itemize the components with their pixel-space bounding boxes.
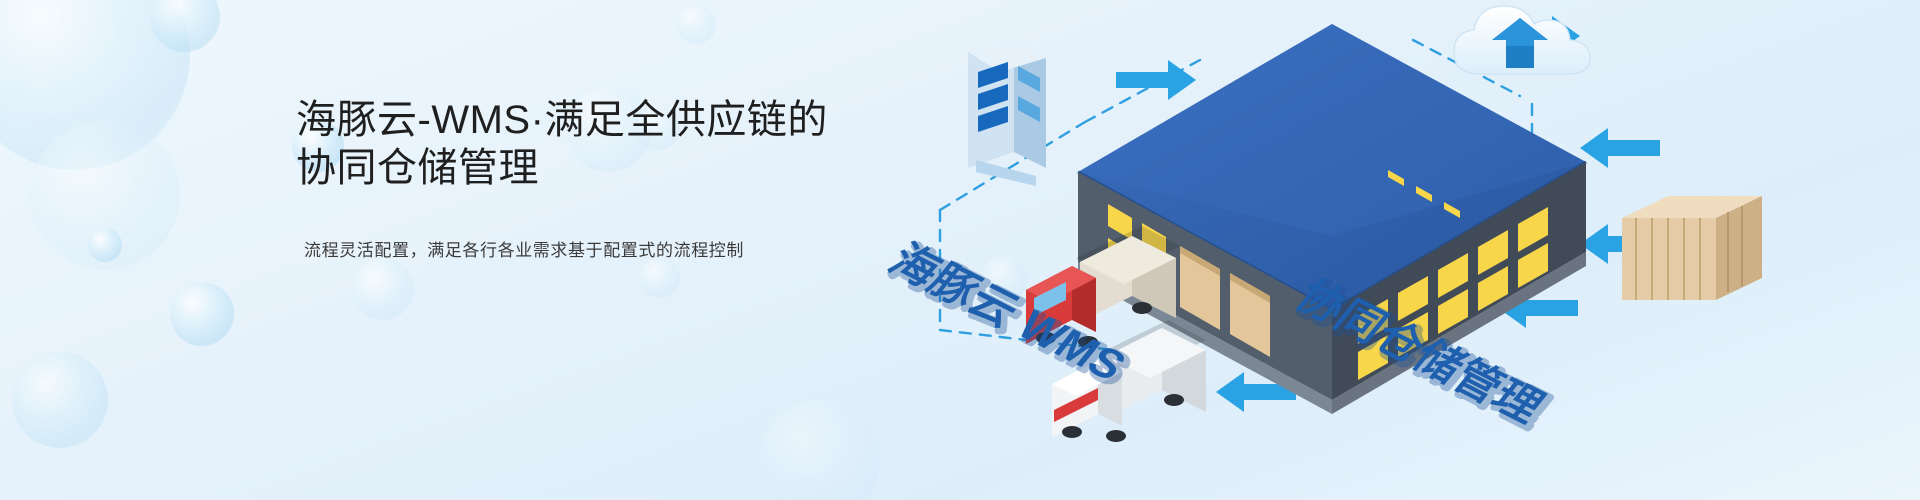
decor-bubble: [676, 4, 716, 44]
decor-bubble: [352, 258, 414, 320]
delivery-truck-white: [1052, 320, 1206, 442]
hero-banner: 海豚云-WMS·满足全供应链的 协同仓储管理 流程灵活配置，满足各行各业需求基于…: [0, 0, 1920, 500]
page-title: 海豚云-WMS·满足全供应链的 协同仓储管理: [296, 96, 916, 192]
decor-bubble: [88, 228, 122, 262]
server-rack-icon: [968, 40, 1046, 186]
hero-illustration: 海豚云 WMS 海豚云 WMS 协同仓储管理 协同仓储管理: [880, 0, 1920, 500]
banner-text-block: 海豚云-WMS·满足全供应链的 协同仓储管理 流程灵活配置，满足各行各业需求基于…: [296, 96, 916, 264]
decor-bubble: [170, 282, 234, 346]
decor-bubble: [150, 0, 220, 52]
decor-bubble: [30, 120, 180, 270]
decor-bubble: [0, 0, 190, 170]
decor-bubble: [12, 352, 108, 448]
cloud-upload-icon: [1454, 6, 1590, 74]
decor-bubble: [640, 258, 680, 298]
shipping-container: [1622, 196, 1762, 300]
banner-subtitle: 流程灵活配置，满足各行各业需求基于配置式的流程控制: [304, 238, 916, 264]
decor-bubble: [760, 400, 880, 500]
